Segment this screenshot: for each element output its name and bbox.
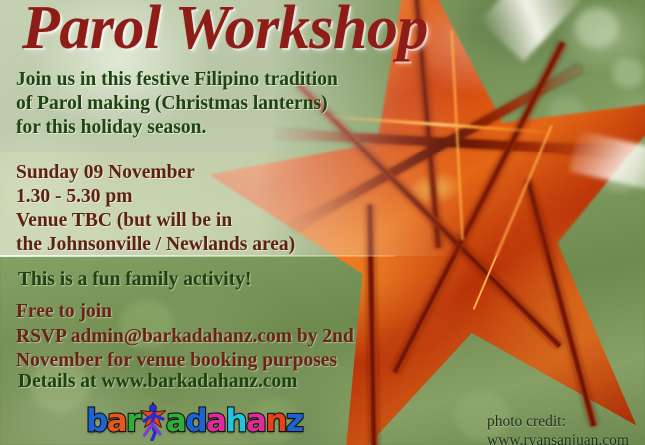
photo-credit-url: www.ryansanjuan.com: [487, 431, 629, 445]
logo-letter: d: [185, 401, 206, 441]
logo-letter: z: [286, 401, 303, 441]
intro-line: of Parol making (Christmas lanterns): [16, 92, 338, 116]
rsvp-block: Free to join RSVP admin@barkadahanz.com …: [16, 300, 354, 374]
logo-letter: a: [246, 401, 265, 441]
photo-credit: photo credit: www.ryansanjuan.com: [487, 412, 629, 445]
logo-letter: n: [265, 401, 286, 441]
event-date: Sunday 09 November: [16, 161, 295, 185]
event-time: 1.30 - 5.30 pm: [16, 185, 295, 209]
rsvp-free-line: Free to join: [16, 300, 354, 325]
barkadahanz-logo[interactable]: baradahanz: [86, 401, 303, 441]
intro-line: for this holiday season.: [16, 116, 338, 140]
parol-workshop-poster: Parol Workshop Join us in this festive F…: [0, 0, 645, 445]
page-title: Parol Workshop: [22, 0, 428, 61]
website-line: Details at www.barkadahanz.com: [18, 371, 298, 393]
rsvp-email-line: RSVP admin@barkadahanz.com by 2nd: [16, 325, 354, 350]
intro-paragraph: Join us in this festive Filipino traditi…: [16, 68, 338, 140]
logo-star-figure-icon: [140, 402, 166, 440]
photo-credit-label: photo credit:: [487, 412, 629, 431]
logo-letter: a: [107, 401, 126, 441]
event-details-block: Sunday 09 November 1.30 - 5.30 pm Venue …: [16, 161, 295, 257]
logo-letter: h: [225, 401, 246, 441]
rsvp-deadline-line: November for venue booking purposes: [16, 349, 354, 374]
logo-letter: a: [206, 401, 225, 441]
tagline: This is a fun family activity!: [18, 268, 251, 292]
intro-line: Join us in this festive Filipino traditi…: [16, 68, 338, 92]
event-venue-line-2: the Johnsonville / Newlands area): [16, 233, 295, 257]
event-venue-line-1: Venue TBC (but will be in: [16, 209, 295, 233]
logo-letter: a: [166, 401, 185, 441]
logo-letter: b: [86, 401, 107, 441]
